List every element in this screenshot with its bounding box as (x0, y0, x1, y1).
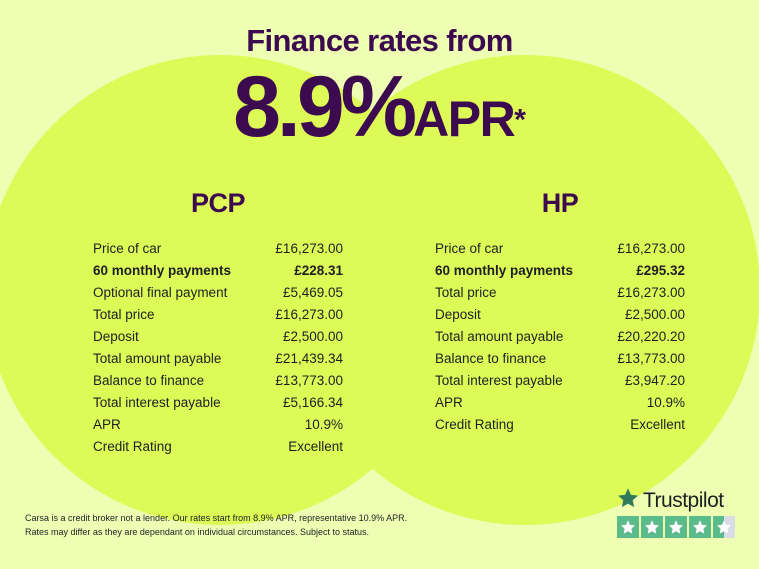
row-value: 10.9% (647, 395, 685, 410)
disclaimer-text: Carsa is a credit broker not a lender. O… (25, 512, 445, 540)
table-row: Deposit £2,500.00 (93, 329, 343, 351)
row-label: Total interest payable (435, 373, 563, 388)
row-label: Deposit (435, 307, 481, 322)
table-row: Total amount payable £20,220.20 (435, 329, 685, 351)
headline-block: Finance rates from 8.9%APR* (0, 0, 759, 150)
row-label: Balance to finance (93, 373, 204, 388)
rate-value: 8.9% (233, 59, 413, 155)
trustpilot-wordmark: Trustpilot (617, 488, 741, 512)
row-value: £2,500.00 (625, 307, 685, 322)
row-label: APR (93, 417, 121, 432)
rate-headline: 8.9%APR* (0, 64, 759, 150)
star-icon (689, 516, 711, 538)
table-row: Total price £16,273.00 (435, 285, 685, 307)
trustpilot-name: Trustpilot (643, 490, 724, 511)
row-label: Total amount payable (435, 329, 563, 344)
row-value: £20,220.20 (617, 329, 685, 344)
trustpilot-stars (617, 516, 741, 538)
table-row: APR 10.9% (93, 417, 343, 439)
row-value: £5,469.05 (283, 285, 343, 300)
row-value: Excellent (630, 417, 685, 432)
row-label: Price of car (435, 241, 503, 256)
row-value: £2,500.00 (283, 329, 343, 344)
table-row: Total interest payable £5,166.34 (93, 395, 343, 417)
row-value: £16,273.00 (617, 285, 685, 300)
row-value: £3,947.20 (625, 373, 685, 388)
table-row: Total price £16,273.00 (93, 307, 343, 329)
row-label: Credit Rating (93, 439, 172, 454)
star-half-icon (713, 516, 735, 538)
trustpilot-rating[interactable]: Trustpilot (617, 488, 741, 538)
row-label: Total interest payable (93, 395, 221, 410)
table-row: Deposit £2,500.00 (435, 307, 685, 329)
table-row: Balance to finance £13,773.00 (435, 351, 685, 373)
rate-asterisk: * (514, 104, 526, 137)
row-label: Price of car (93, 241, 161, 256)
disclaimer-line-1: Carsa is a credit broker not a lender. O… (25, 512, 445, 526)
row-label: Balance to finance (435, 351, 546, 366)
row-value: £16,273.00 (275, 241, 343, 256)
finance-rates-card: Finance rates from 8.9%APR* PCP Price of… (0, 0, 759, 569)
star-icon (665, 516, 687, 538)
row-label: Credit Rating (435, 417, 514, 432)
plan-title-pcp: PCP (93, 190, 343, 217)
row-label: Total price (93, 307, 155, 322)
row-value: £16,273.00 (617, 241, 685, 256)
star-icon (641, 516, 663, 538)
row-label: 60 monthly payments (435, 263, 573, 278)
table-row: Total amount payable £21,439.34 (93, 351, 343, 373)
row-value: £21,439.34 (275, 351, 343, 366)
plan-title-hp: HP (435, 190, 685, 217)
row-label: 60 monthly payments (93, 263, 231, 278)
rate-unit: APR (413, 91, 514, 147)
star-icon (617, 487, 639, 514)
row-label: Total price (435, 285, 497, 300)
table-row: Total interest payable £3,947.20 (435, 373, 685, 395)
row-value: £295.32 (636, 263, 685, 278)
plan-table-hp: HP Price of car £16,273.00 60 monthly pa… (435, 190, 685, 439)
page-title: Finance rates from (0, 25, 759, 56)
row-value: 10.9% (305, 417, 343, 432)
disclaimer-line-2: Rates may differ as they are dependant o… (25, 526, 445, 540)
table-row: Price of car £16,273.00 (435, 241, 685, 263)
row-value: £13,773.00 (617, 351, 685, 366)
table-row: 60 monthly payments £228.31 (93, 263, 343, 285)
table-row: APR 10.9% (435, 395, 685, 417)
plan-table-pcp: PCP Price of car £16,273.00 60 monthly p… (93, 190, 343, 461)
table-row: 60 monthly payments £295.32 (435, 263, 685, 285)
row-label: Optional final payment (93, 285, 227, 300)
row-label: APR (435, 395, 463, 410)
row-value: £228.31 (294, 263, 343, 278)
table-row: Optional final payment £5,469.05 (93, 285, 343, 307)
table-row: Balance to finance £13,773.00 (93, 373, 343, 395)
row-value: £5,166.34 (283, 395, 343, 410)
table-row: Price of car £16,273.00 (93, 241, 343, 263)
row-value: £16,273.00 (275, 307, 343, 322)
table-row: Credit Rating Excellent (93, 439, 343, 461)
row-label: Deposit (93, 329, 139, 344)
row-value: Excellent (288, 439, 343, 454)
star-icon (617, 516, 639, 538)
row-label: Total amount payable (93, 351, 221, 366)
row-value: £13,773.00 (275, 373, 343, 388)
table-row: Credit Rating Excellent (435, 417, 685, 439)
